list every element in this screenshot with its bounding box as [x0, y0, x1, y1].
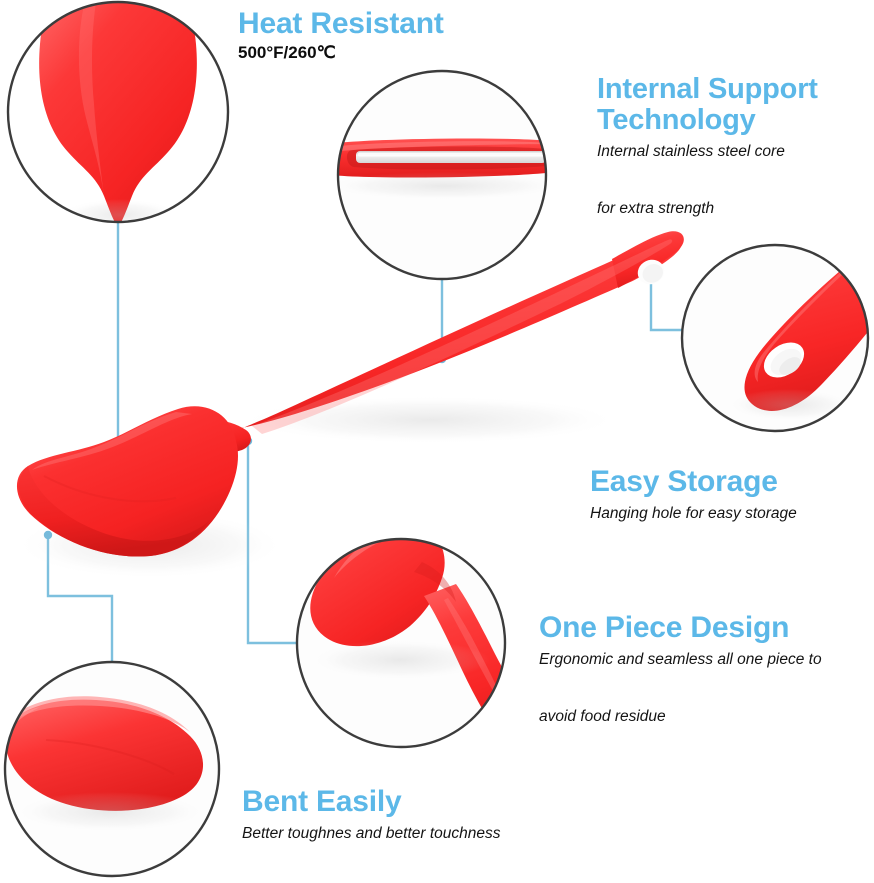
feature-subtitle-easy-storage: Hanging hole for easy storage [590, 500, 870, 529]
callout-ring-bent-easily [5, 662, 219, 876]
callout-ring-easy-storage [682, 245, 868, 431]
spatula-handle [231, 238, 681, 434]
feature-subtitle-one-piece-design: Ergonomic and seamless all one piece to … [539, 646, 874, 732]
spatula-handle-highlight [252, 239, 672, 434]
callout-ring-one-piece-design [297, 539, 505, 747]
anchor-dot-head-edge [44, 531, 52, 539]
feature-title-one-piece-design: One Piece Design [539, 612, 874, 644]
leader-easy-storage [651, 274, 682, 330]
callout-bent-easily [2, 659, 224, 881]
callout-one-piece-design [295, 520, 540, 749]
callout-heat-resistant [8, 0, 228, 231]
spatula-neck [192, 420, 251, 453]
hanging-hole [634, 255, 669, 288]
feature-block-heat-resistant: Heat Resistant 500°F/260℃ [238, 8, 538, 63]
spatula-handle-tip [612, 231, 684, 288]
feature-title-internal-support: Internal Support Technology [597, 74, 874, 136]
hanging-hole-zoom [757, 335, 810, 384]
leader-line-anchor-dots [44, 268, 655, 539]
anchor-dot-handle-mid [438, 355, 446, 363]
callout-easy-storage [680, 226, 874, 435]
spatula-head [17, 406, 238, 556]
feature-title-bent-easily: Bent Easily [242, 786, 572, 818]
leader-lines-group [48, 222, 682, 662]
leader-one-piece-design [248, 441, 297, 643]
feature-subtitle-internal-support: Internal stainless steel core for extra … [597, 138, 874, 224]
feature-subtitle-heat-resistant: 500°F/260℃ [238, 43, 538, 63]
callout-internal-support [310, 69, 573, 283]
feature-title-heat-resistant: Heat Resistant [238, 8, 538, 40]
stainless-steel-core [356, 151, 546, 163]
feature-block-one-piece-design: One Piece Design Ergonomic and seamless … [539, 612, 874, 732]
spatula-head-crease [44, 476, 176, 501]
main-spatula [15, 231, 684, 579]
spatula-head-highlight [32, 412, 192, 470]
feature-block-bent-easily: Bent Easily Better toughnes and better t… [242, 786, 572, 849]
anchor-dot-head-upper [114, 486, 122, 494]
feature-title-easy-storage: Easy Storage [590, 466, 870, 498]
anchor-dot-neck [244, 437, 252, 445]
callout-ring-heat-resistant [8, 2, 228, 222]
feature-block-internal-support: Internal Support Technology Internal sta… [597, 74, 874, 224]
product-feature-infographic: Heat Resistant 500°F/260℃ Internal Suppo… [0, 0, 874, 883]
spatula-head-lip [19, 466, 210, 557]
feature-subtitle-bent-easily: Better toughnes and better touchness [242, 820, 572, 849]
anchor-dot-hanging-hole [647, 268, 655, 276]
callout-ring-internal-support [338, 71, 546, 279]
leader-bent-easily [48, 535, 112, 662]
feature-block-easy-storage: Easy Storage Hanging hole for easy stora… [590, 466, 870, 529]
hanging-hole-inner-shade [639, 261, 666, 286]
